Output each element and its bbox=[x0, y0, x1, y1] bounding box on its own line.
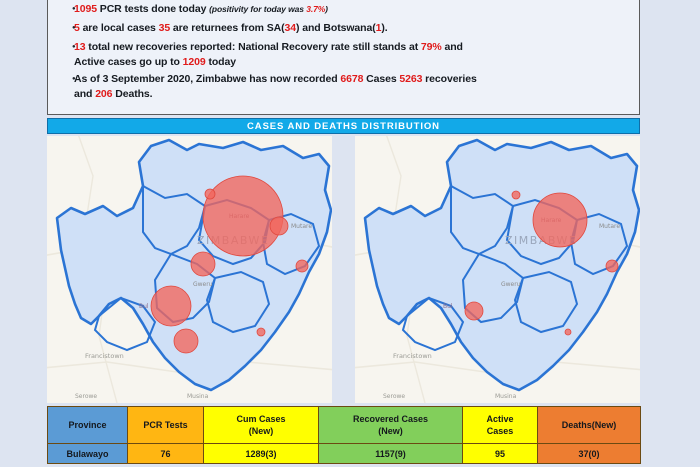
table-row: Bulawayo 76 1289(3) 1157(9) 95 37(0) bbox=[48, 444, 641, 464]
maps-strip: ZIMBABWE Francistown Serowe Musina Harar… bbox=[47, 136, 640, 403]
bubble-bulawayo bbox=[151, 286, 191, 326]
local-cases-label: are local cases bbox=[80, 22, 159, 34]
column-header-active-cases[interactable]: Active Cases bbox=[463, 407, 538, 444]
botswana-label: ) and Botswana( bbox=[296, 22, 376, 34]
city-label-serowe: Serowe bbox=[75, 393, 97, 400]
returnees-tail: ). bbox=[381, 22, 387, 34]
bubble-gweru bbox=[191, 252, 215, 276]
highlight-bullet-local-and-returnees: 5 are local cases 35 are returnees from … bbox=[58, 21, 631, 38]
cell-cum-cases: 1289(3) bbox=[204, 444, 319, 464]
bullet-marker-icon bbox=[58, 40, 74, 57]
returnees-label: are returnees from SA( bbox=[170, 22, 284, 34]
cumulative-recoveries-label: recoveries bbox=[422, 73, 476, 85]
active-cases-tail: today bbox=[206, 56, 236, 68]
cell-pcr-tests: 76 bbox=[128, 444, 204, 464]
active-cases-value: 1209 bbox=[183, 56, 206, 68]
cumulative-deaths-label: Deaths. bbox=[112, 88, 152, 100]
highlight-bullet-recoveries: 13 total new recoveries reported: Nation… bbox=[58, 40, 631, 70]
cumulative-cases-label: Cases bbox=[363, 73, 399, 85]
cell-active-cases: 95 bbox=[463, 444, 538, 464]
column-header-pcr-tests[interactable]: PCR Tests bbox=[128, 407, 204, 444]
highlights-panel: 1095 PCR tests done today (positivity fo… bbox=[47, 0, 640, 115]
recovery-rate-label: total new recoveries reported: National … bbox=[85, 41, 420, 53]
highlights-list: 1095 PCR tests done today (positivity fo… bbox=[48, 0, 639, 102]
maps-divider bbox=[332, 136, 355, 403]
highlight-bullet-text: 5 are local cases 35 are returnees from … bbox=[74, 21, 631, 36]
cumulative-recoveries-value: 5263 bbox=[399, 73, 422, 85]
city-label-bulawayo: Bul bbox=[139, 303, 149, 310]
city-label-francistown: Francistown bbox=[85, 352, 124, 360]
recovery-rate-tail: and bbox=[442, 41, 463, 53]
city-label-gweru: Gweru bbox=[501, 281, 521, 288]
highlight-bullet-cumulative-totals: As of 3 September 2020, Zimbabwe has now… bbox=[58, 72, 631, 102]
table-header: Province PCR Tests Cum Cases (New) Recov… bbox=[48, 407, 641, 444]
recovery-rate-value: 79% bbox=[421, 41, 442, 53]
bubble-bindura bbox=[512, 191, 520, 199]
bullet-marker-icon bbox=[58, 2, 74, 19]
active-cases-label: Active cases go up to bbox=[74, 56, 183, 68]
bullet-marker-icon bbox=[58, 21, 74, 38]
province-data-table: Province PCR Tests Cum Cases (New) Recov… bbox=[47, 406, 641, 464]
section-banner: CASES AND DEATHS DISTRIBUTION bbox=[47, 118, 640, 134]
deaths-distribution-map: ZIMBABWE Francistown Serowe Musina Harar… bbox=[355, 136, 640, 403]
bubble-masvingo bbox=[257, 328, 265, 336]
sa-returnees-count: 34 bbox=[285, 22, 296, 34]
cell-recovered-cases: 1157(9) bbox=[319, 444, 463, 464]
highlight-bullet-text: 13 total new recoveries reported: Nation… bbox=[74, 40, 631, 70]
bubble-harare bbox=[203, 176, 283, 256]
pcr-tests-label: PCR tests done today bbox=[97, 3, 209, 15]
city-label-mutare: Mutare bbox=[599, 223, 620, 230]
cell-province: Bulawayo bbox=[48, 444, 128, 464]
city-label-musina: Musina bbox=[495, 393, 517, 400]
bubble-mutare bbox=[270, 217, 288, 235]
bubble-chipinge bbox=[296, 260, 308, 272]
bubble-bindura bbox=[205, 189, 215, 199]
highlight-bullet-text: As of 3 September 2020, Zimbabwe has now… bbox=[74, 72, 631, 102]
positivity-note-open: (positivity for today was bbox=[209, 4, 306, 14]
highlight-bullet-pcr-tests: 1095 PCR tests done today (positivity fo… bbox=[58, 2, 631, 19]
city-label-serowe: Serowe bbox=[383, 393, 405, 400]
column-header-deaths-new[interactable]: Deaths(New) bbox=[538, 407, 641, 444]
positivity-value: 3.7% bbox=[306, 4, 325, 14]
bubble-chipinge bbox=[606, 260, 618, 272]
table-body: Bulawayo 76 1289(3) 1157(9) 95 37(0) bbox=[48, 444, 641, 464]
positivity-note-close: ) bbox=[325, 4, 328, 14]
column-header-cum-cases[interactable]: Cum Cases (New) bbox=[204, 407, 319, 444]
returnees-count: 35 bbox=[159, 22, 170, 34]
cumulative-deaths-prefix: and bbox=[74, 88, 95, 100]
city-label-gweru: Gweru bbox=[193, 281, 213, 288]
cumulative-deaths-line: and 206 Deaths. bbox=[74, 87, 631, 102]
city-label-musina: Musina bbox=[187, 393, 209, 400]
city-label-mutare: Mutare bbox=[291, 223, 312, 230]
bubble-beitbridge bbox=[174, 329, 198, 353]
column-header-recovered-cases[interactable]: Recovered Cases (New) bbox=[319, 407, 463, 444]
city-label-francistown: Francistown bbox=[393, 352, 432, 360]
pcr-tests-count: 1095 bbox=[74, 3, 97, 15]
bubble-masvingo bbox=[565, 329, 571, 335]
infographic-page: 1095 PCR tests done today (positivity fo… bbox=[0, 0, 700, 467]
bubble-bulawayo bbox=[465, 302, 483, 320]
city-label-bulawayo: Bul bbox=[443, 303, 453, 310]
cases-map-graphic: ZIMBABWE Francistown Serowe Musina Harar… bbox=[47, 136, 332, 403]
table-header-row: Province PCR Tests Cum Cases (New) Recov… bbox=[48, 407, 641, 444]
cell-deaths-new: 37(0) bbox=[538, 444, 641, 464]
bullet-marker-icon bbox=[58, 72, 74, 89]
deaths-map-graphic: ZIMBABWE Francistown Serowe Musina Harar… bbox=[355, 136, 640, 403]
bubble-harare bbox=[533, 193, 587, 247]
highlight-bullet-text: 1095 PCR tests done today (positivity fo… bbox=[74, 2, 631, 17]
cases-distribution-map: ZIMBABWE Francistown Serowe Musina Harar… bbox=[47, 136, 332, 403]
section-banner-label: CASES AND DEATHS DISTRIBUTION bbox=[247, 121, 440, 132]
cumulative-date-label: As of 3 September 2020, Zimbabwe has now… bbox=[74, 73, 340, 85]
active-cases-line: Active cases go up to 1209 today bbox=[74, 55, 631, 70]
cumulative-deaths-value: 206 bbox=[95, 88, 112, 100]
column-header-province[interactable]: Province bbox=[48, 407, 128, 444]
cumulative-cases-value: 6678 bbox=[340, 73, 363, 85]
